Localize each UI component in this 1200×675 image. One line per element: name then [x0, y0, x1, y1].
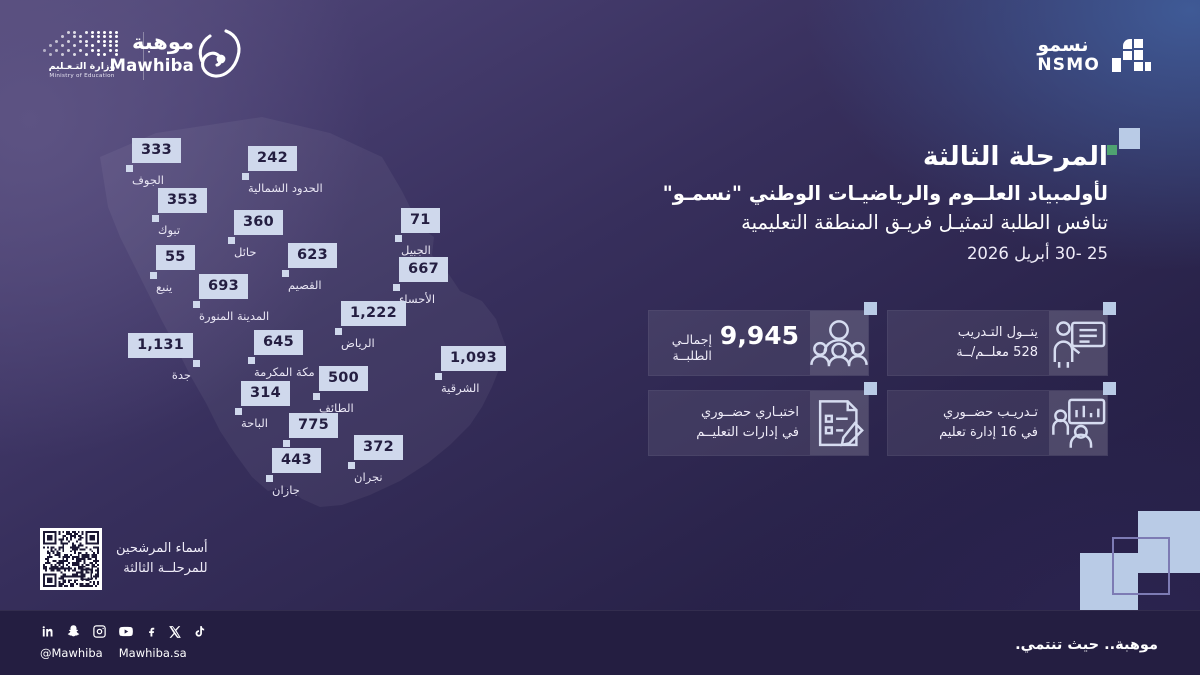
- qr-caption-line1: أسماء المرشحين: [116, 539, 208, 559]
- region-name: الرياض: [341, 337, 375, 351]
- region-value: 71: [401, 208, 440, 234]
- map-pin-dot: [395, 235, 402, 242]
- card-body: تـدريـب حضــوريفي 16 إدارة تعليم: [888, 391, 1049, 455]
- saudi-arabia-map: 333الجوف242الحدود الشمالية353تبوك360حائل…: [30, 95, 590, 535]
- region-name: مكة المكرمة: [254, 366, 315, 380]
- region-name: ينبع: [156, 281, 172, 295]
- mawhiba-swirl-icon: [196, 28, 242, 80]
- facebook-icon[interactable]: [145, 624, 157, 639]
- header: وزارة التـعـليم Ministry of Education مو…: [0, 0, 1200, 105]
- card-corner-accent: [864, 302, 877, 315]
- qr-block: أسماء المرشحين للمرحلــة الثالثة: [40, 528, 208, 590]
- qr-caption-line2: للمرحلــة الثالثة: [116, 559, 208, 579]
- region-value: 1,222: [341, 301, 406, 327]
- region-name: نجران: [354, 471, 383, 485]
- infographic-canvas: وزارة التـعـليم Ministry of Education مو…: [0, 0, 1200, 675]
- map-pin-dot: [126, 165, 133, 172]
- map-pin-dot: [193, 301, 200, 308]
- card-body: يتــول التـدريب528 معلــم/ــة: [888, 311, 1049, 375]
- map-pin-dot: [150, 272, 157, 279]
- region-value: 333: [132, 138, 181, 164]
- card-label: إجمالـي الطلبــة: [658, 332, 712, 363]
- stat-cards: إجمالـي الطلبــة9,945يتــول التـدريب528 …: [648, 310, 1108, 470]
- region-value: 372: [354, 435, 403, 461]
- region-value: 360: [234, 210, 283, 236]
- title-block: المرحلة الثالثة لأولمبياد العلــوم والري…: [588, 140, 1108, 263]
- region-name: الباحة: [241, 417, 268, 431]
- card-corner-accent: [864, 382, 877, 395]
- ministry-of-education-dots-icon: [42, 30, 122, 58]
- title-accent-square: [1119, 128, 1140, 149]
- mawhiba-logo: موهبة Mawhiba: [122, 28, 242, 84]
- map-pin-dot: [283, 440, 290, 447]
- map-pin-dot: [282, 270, 289, 277]
- region-value: 693: [199, 274, 248, 300]
- map-pin-dot: [152, 215, 159, 222]
- nsmo-logo: نسمو NSMO: [1037, 30, 1152, 80]
- decor-square-outline: [1112, 537, 1170, 595]
- card-value: 9,945: [720, 323, 799, 348]
- map-pin-dot: [228, 237, 235, 244]
- map-pin-dot: [266, 475, 273, 482]
- stat-card-in-person-exam[interactable]: اختبـاري حضــوريفي إدارات التعليــم: [648, 390, 869, 456]
- region-value: 1,131: [128, 333, 193, 359]
- region-value: 667: [399, 257, 448, 283]
- region-value: 645: [254, 330, 303, 356]
- region-name: تبوك: [158, 224, 180, 238]
- card-corner-accent: [1103, 382, 1116, 395]
- card-label-line2: 528 معلــم/ــة: [897, 344, 1038, 362]
- stat-card-trainers[interactable]: يتــول التـدريب528 معلــم/ــة: [887, 310, 1108, 376]
- map-pin-dot: [348, 462, 355, 469]
- region-value: 443: [272, 448, 321, 474]
- card-label-line1: اختبـاري حضــوري: [658, 404, 799, 422]
- people-group-icon: [810, 311, 868, 375]
- region-value: 1,093: [441, 346, 506, 372]
- stat-card-in-person-training[interactable]: تـدريـب حضــوريفي 16 إدارة تعليم: [887, 390, 1108, 456]
- region-value: 500: [319, 366, 368, 392]
- map-pin-dot: [248, 357, 255, 364]
- mawhiba-english-label: Mawhiba: [109, 56, 194, 75]
- region-name: المدينة المنورة: [199, 310, 269, 324]
- region-value: 353: [158, 188, 207, 214]
- region-value: 55: [156, 245, 195, 271]
- nsmo-blocks-icon: [1110, 38, 1152, 72]
- card-label-line2: في 16 إدارة تعليم: [897, 424, 1038, 442]
- instagram-icon[interactable]: [92, 624, 107, 639]
- nsmo-english-label: NSMO: [1037, 56, 1100, 75]
- linkedin-icon[interactable]: [40, 624, 55, 639]
- map-pin-dot: [393, 284, 400, 291]
- map-pin-dot: [242, 173, 249, 180]
- subtitle-line1: لأولمبياد العلــوم والرياضيـات الوطني "ن…: [588, 179, 1108, 208]
- subtitle-line2: تنافس الطلبة لتمثيـل فريـق المنطقة التعل…: [588, 208, 1108, 237]
- region-value: 775: [289, 413, 338, 439]
- card-label-line1: تـدريـب حضــوري: [897, 404, 1038, 422]
- region-value: 314: [241, 381, 290, 407]
- exam-clipboard-pencil-icon: [810, 391, 868, 455]
- youtube-icon[interactable]: [118, 624, 134, 639]
- stat-card-row-1: اختبـاري حضــوريفي إدارات التعليــمتـدري…: [648, 390, 1108, 456]
- region-value: 242: [248, 146, 297, 172]
- footer: @Mawhiba Mawhiba.sa موهبة.. حيث تنتمي.: [0, 610, 1200, 675]
- card-label-line2: في إدارات التعليــم: [658, 424, 799, 442]
- map-pin-dot: [193, 360, 200, 367]
- event-date: 25 -30 أبريل 2026: [588, 244, 1108, 263]
- map-pin-dot: [313, 393, 320, 400]
- region-name: جازان: [272, 484, 300, 498]
- card-corner-accent: [1103, 302, 1116, 315]
- footer-tagline: موهبة.. حيث تنتمي.: [1015, 637, 1158, 653]
- snapchat-icon[interactable]: [66, 624, 81, 639]
- mawhiba-arabic-label: موهبة: [132, 30, 194, 54]
- training-board-icon: [1049, 391, 1107, 455]
- stat-card-total-students[interactable]: إجمالـي الطلبــة9,945: [648, 310, 869, 376]
- stat-card-row-0: إجمالـي الطلبــة9,945يتــول التـدريب528 …: [648, 310, 1108, 376]
- social-block: @Mawhiba Mawhiba.sa: [40, 623, 206, 660]
- card-label-line1: يتــول التـدريب: [897, 324, 1038, 342]
- region-name: القصيم: [288, 279, 322, 293]
- region-value: 623: [288, 243, 337, 269]
- region-name: جدة: [172, 369, 191, 383]
- nsmo-text: نسمو NSMO: [1037, 36, 1100, 75]
- teacher-presenting-icon: [1049, 311, 1107, 375]
- card-body: إجمالـي الطلبــة9,945: [649, 311, 810, 375]
- region-name: الحدود الشمالية: [248, 182, 323, 196]
- decorative-squares: [1080, 495, 1200, 613]
- website-link[interactable]: Mawhiba.sa: [119, 646, 187, 660]
- social-icons: [40, 623, 206, 640]
- tiktok-icon[interactable]: [193, 624, 206, 639]
- qr-code[interactable]: [40, 528, 102, 590]
- qr-caption: أسماء المرشحين للمرحلــة الثالثة: [116, 539, 208, 579]
- map-pin-dot: [235, 408, 242, 415]
- social-handles: @Mawhiba Mawhiba.sa: [40, 646, 206, 660]
- card-body: اختبـاري حضــوريفي إدارات التعليــم: [649, 391, 810, 455]
- region-name: الشرقية: [441, 382, 479, 396]
- map-pin-dot: [335, 328, 342, 335]
- page-title: المرحلة الثالثة: [588, 140, 1108, 173]
- nsmo-arabic-label: نسمو: [1037, 36, 1100, 56]
- region-name: الجوف: [132, 174, 164, 188]
- map-pin-dot: [435, 373, 442, 380]
- title-accent-square-green: [1107, 145, 1117, 155]
- x-twitter-icon[interactable]: [168, 625, 182, 639]
- social-handle[interactable]: @Mawhiba: [40, 646, 103, 660]
- region-name: حائل: [234, 246, 257, 260]
